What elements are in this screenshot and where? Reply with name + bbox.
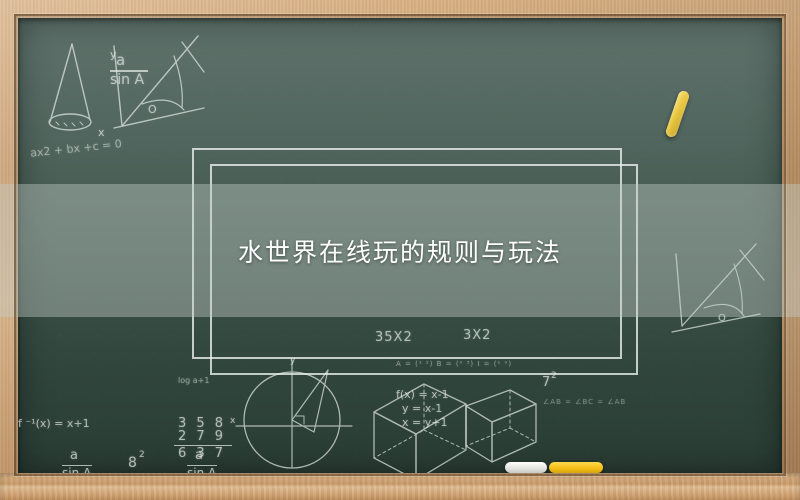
chalkboard-title-card: a sin A ax2 + bx +c = 0 y x O f(x) = x-1…: [0, 0, 800, 500]
frame-inner-bevel: [14, 14, 786, 476]
chalk-tray: [0, 473, 800, 500]
